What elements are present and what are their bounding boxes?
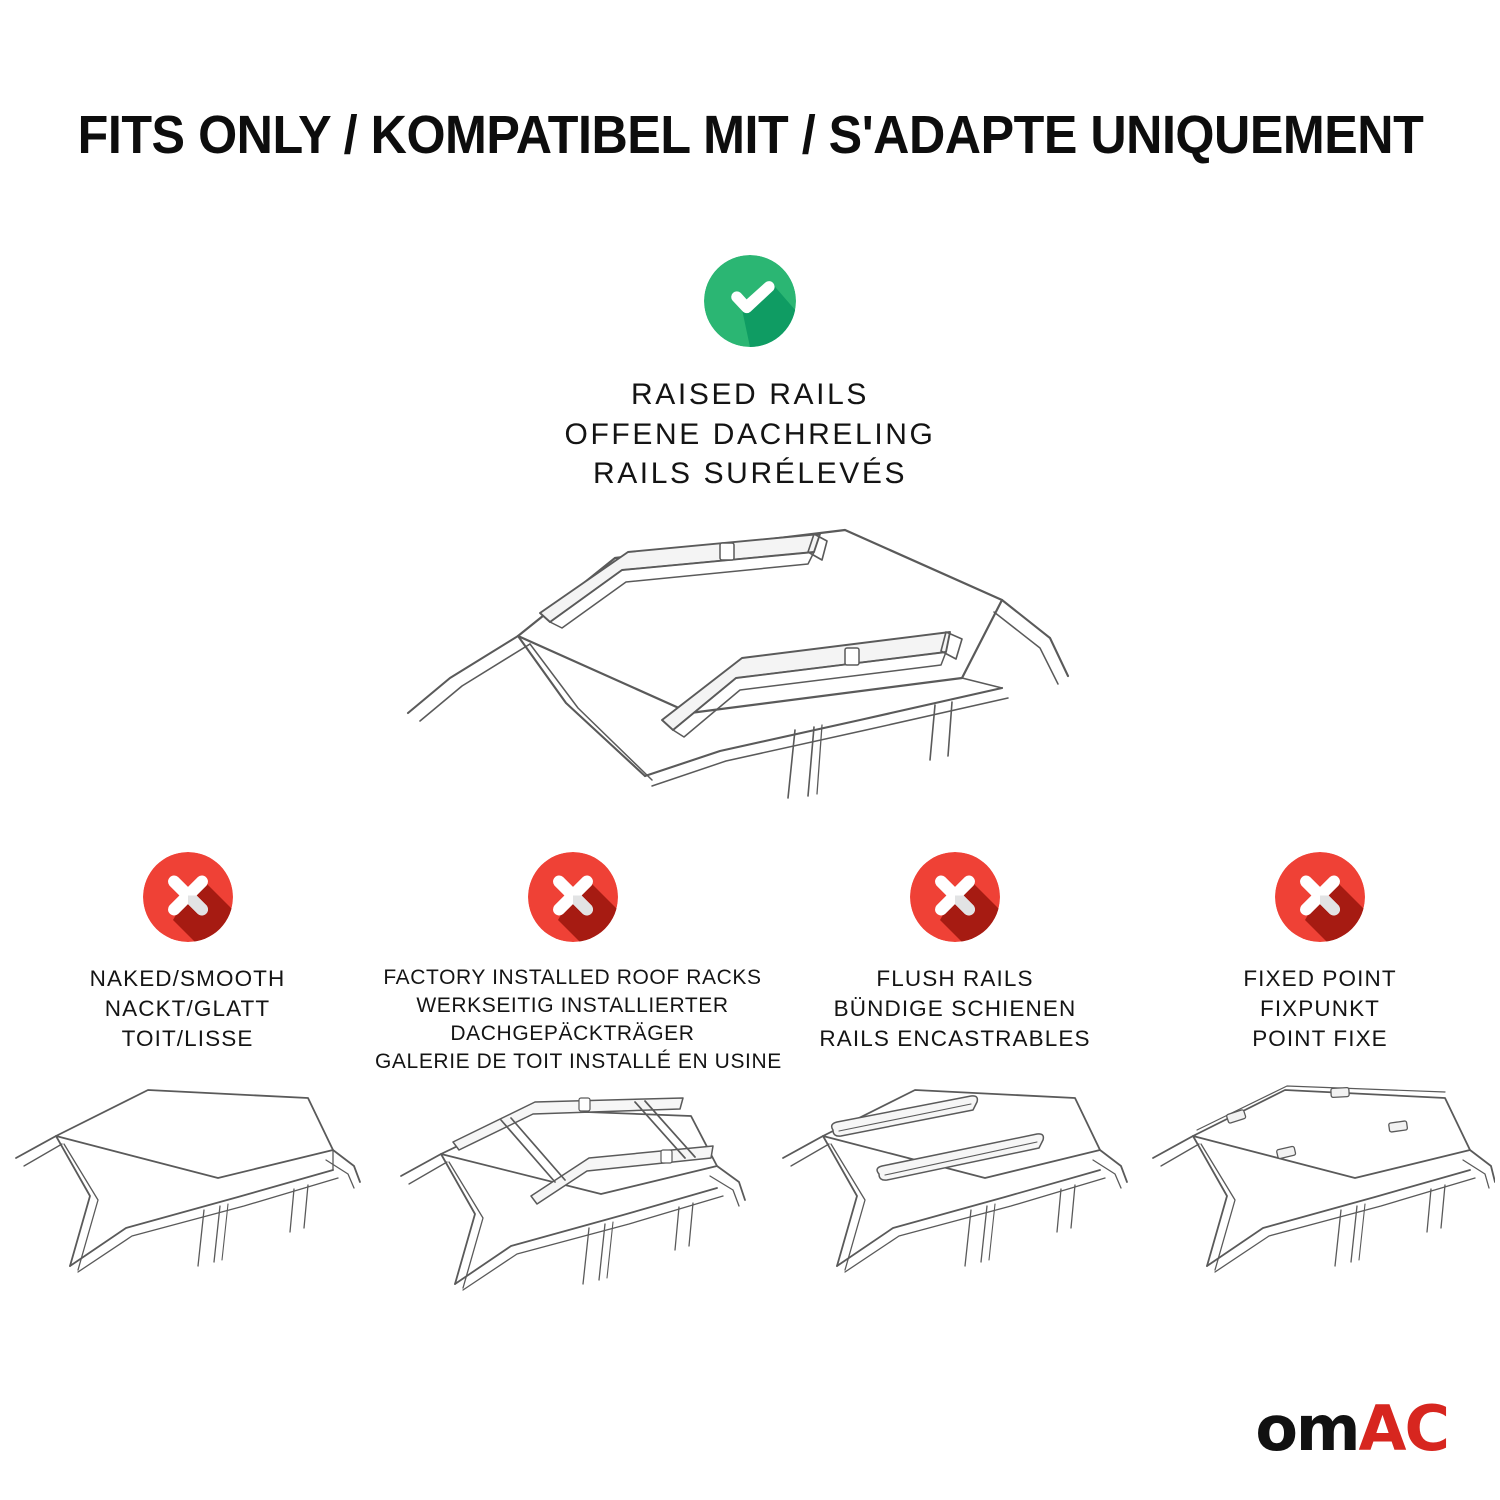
check-circle-icon [704, 255, 796, 347]
label-line-3: TOIT/LISSE [0, 1024, 375, 1054]
label-line-4: GALERIE DE TOIT INSTALLÉ EN USINE [375, 1048, 770, 1076]
compatible-label-line-3: RAILS SURÉLEVÉS [0, 454, 1500, 494]
car-roof-with-raised-rails-illustration [0, 508, 1500, 808]
status-badge-incompatible-flush [910, 852, 1000, 942]
car-roof-factory-roof-rack-illustration [375, 1092, 770, 1322]
x-circle-icon [1275, 852, 1365, 942]
label-line-1: FLUSH RAILS [770, 964, 1140, 994]
label-line-3: RAILS ENCASTRABLES [770, 1024, 1140, 1054]
status-badge-incompatible-naked [143, 852, 233, 942]
page-title: FITS ONLY / KOMPATIBEL MIT / S'ADAPTE UN… [0, 104, 1500, 166]
label-line-2: NACKT/GLATT [0, 994, 375, 1024]
status-badge-compatible [704, 255, 796, 347]
compatible-section: RAISED RAILS OFFENE DACHRELING RAILS SUR… [0, 255, 1500, 808]
brand-logo-ac: AC [1359, 1392, 1448, 1465]
incompatible-column-factory-rack: FACTORY INSTALLED ROOF RACKS WERKSEITIG … [375, 852, 770, 1322]
x-circle-icon [910, 852, 1000, 942]
incompatible-column-fixed-point: FIXED POINT FIXPUNKT POINT FIXE [1140, 852, 1500, 1300]
label-line-1: FIXED POINT [1140, 964, 1500, 994]
x-circle-icon [528, 852, 618, 942]
brand-logo: omAC [1255, 1398, 1448, 1460]
x-circle-icon [143, 852, 233, 942]
incompatible-column-flush-rails: FLUSH RAILS BÜNDIGE SCHIENEN RAILS ENCAS… [770, 852, 1140, 1300]
car-roof-naked-smooth-illustration [0, 1070, 375, 1300]
brand-logo-om: om [1255, 1392, 1358, 1465]
car-roof-flush-rails-illustration [770, 1070, 1140, 1300]
incompatible-label-naked: NAKED/SMOOTH NACKT/GLATT TOIT/LISSE [0, 964, 375, 1054]
status-badge-incompatible-fixed-point [1275, 852, 1365, 942]
label-line-2: WERKSEITIG INSTALLIERTER [375, 992, 770, 1020]
label-line-3: POINT FIXE [1140, 1024, 1500, 1054]
incompatible-section: NAKED/SMOOTH NACKT/GLATT TOIT/LISSE [0, 852, 1500, 1322]
compatible-label-line-1: RAISED RAILS [0, 375, 1500, 415]
compatible-label: RAISED RAILS OFFENE DACHRELING RAILS SUR… [0, 375, 1500, 494]
car-roof-fixed-point-illustration [1140, 1070, 1500, 1300]
incompatible-label-flush: FLUSH RAILS BÜNDIGE SCHIENEN RAILS ENCAS… [770, 964, 1140, 1054]
label-line-1: NAKED/SMOOTH [0, 964, 375, 994]
incompatible-column-naked-smooth: NAKED/SMOOTH NACKT/GLATT TOIT/LISSE [0, 852, 375, 1300]
incompatible-label-factory: FACTORY INSTALLED ROOF RACKS WERKSEITIG … [375, 964, 770, 1076]
status-badge-incompatible-factory [528, 852, 618, 942]
compatible-label-line-2: OFFENE DACHRELING [0, 415, 1500, 455]
label-line-2: BÜNDIGE SCHIENEN [770, 994, 1140, 1024]
label-line-1: FACTORY INSTALLED ROOF RACKS [375, 964, 770, 992]
label-line-2: FIXPUNKT [1140, 994, 1500, 1024]
page-title-text: FITS ONLY / KOMPATIBEL MIT / S'ADAPTE UN… [77, 104, 1423, 166]
label-line-3: DACHGEPÄCKTRÄGER [375, 1020, 770, 1048]
incompatible-label-fixed-point: FIXED POINT FIXPUNKT POINT FIXE [1140, 964, 1500, 1054]
